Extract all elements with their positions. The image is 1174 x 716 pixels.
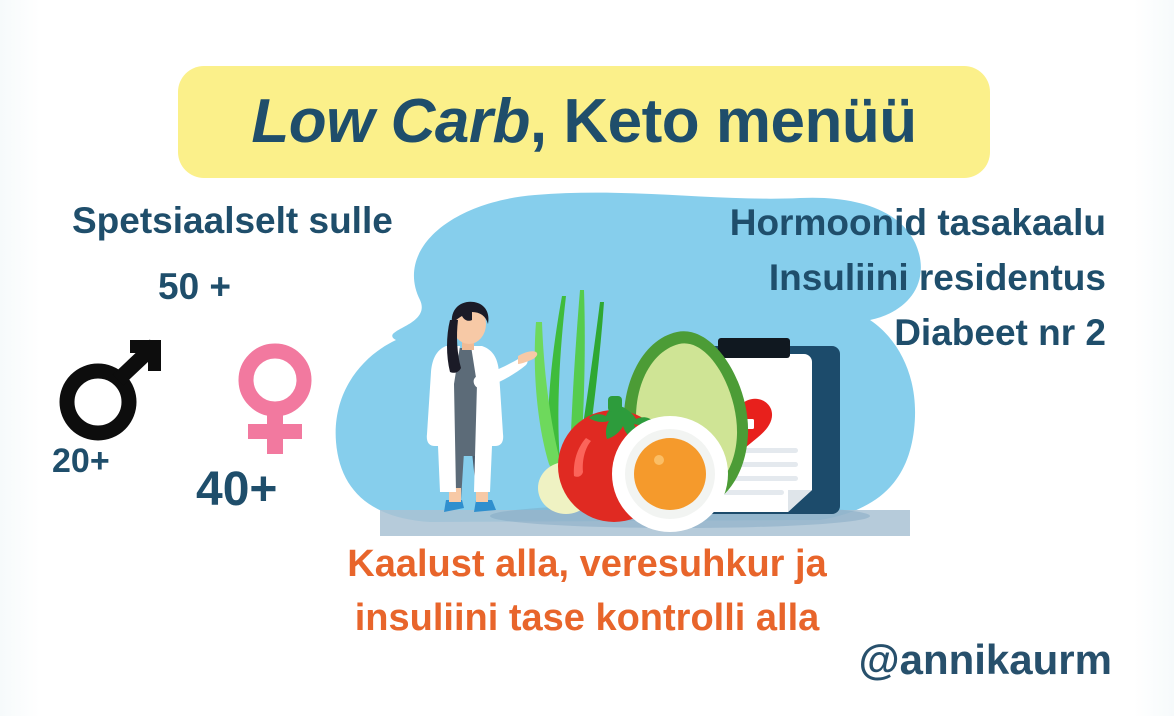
benefits-list: Hormoonid tasakaalu Insuliini residentus…	[730, 196, 1106, 360]
left-age-50: 50 +	[158, 266, 231, 308]
doctor-hand	[518, 351, 537, 364]
male-gender-icon	[56, 332, 171, 442]
left-heading: Spetsiaalselt sulle	[72, 200, 393, 242]
female-gender-icon	[226, 342, 324, 460]
title-banner: Low Carb, Keto menüü	[178, 66, 990, 178]
benefit-item: Insuliini residentus	[730, 251, 1106, 306]
title-emphasis: Low Carb	[251, 87, 529, 156]
title-rest: Keto menüü	[547, 87, 917, 156]
benefit-item: Diabeet nr 2	[730, 306, 1106, 361]
tagline-line: Kaalust alla, veresuhkur ja	[0, 538, 1174, 592]
poster-canvas: Low Carb, Keto menüü	[0, 0, 1174, 716]
benefit-item: Hormoonid tasakaalu	[730, 196, 1106, 251]
social-handle: @annikaurm	[859, 636, 1112, 684]
page-title: Low Carb, Keto menüü	[251, 91, 916, 153]
doctor-figure-icon	[427, 302, 537, 512]
egg-yolk	[634, 438, 706, 510]
boiled-egg-icon	[612, 416, 728, 532]
female-age-label: 40+	[196, 462, 277, 517]
male-age-label: 20+	[52, 442, 110, 481]
title-comma: ,	[530, 87, 547, 156]
egg-yolk-highlight	[654, 455, 664, 465]
tomato-stem	[608, 396, 622, 412]
tagline-block: Kaalust alla, veresuhkur ja insuliini ta…	[0, 538, 1174, 646]
